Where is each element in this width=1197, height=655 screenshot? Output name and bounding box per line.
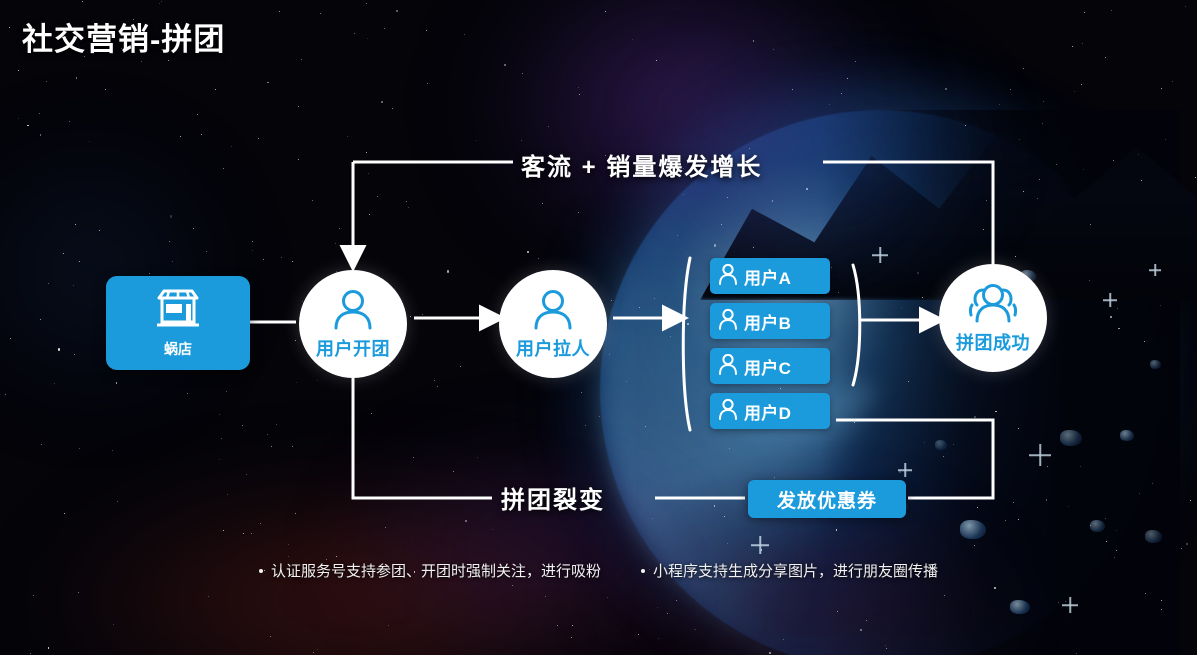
user-chip-label: 用户D bbox=[744, 399, 791, 424]
issue-coupon-button[interactable]: 发放优惠券 bbox=[748, 480, 906, 518]
user-chip-label: 用户B bbox=[744, 309, 791, 334]
node-label: 用户拉人 bbox=[516, 335, 590, 361]
person-icon bbox=[718, 353, 738, 380]
node-group-success[interactable]: 拼团成功 bbox=[939, 264, 1047, 372]
footnote-text: 小程序支持生成分享图片，进行朋友圈传播 bbox=[653, 560, 938, 581]
footnote-list: 认证服务号支持参团、开团时强制关注，进行吸粉 小程序支持生成分享图片，进行朋友圈… bbox=[0, 560, 1197, 581]
bullet-dot-icon bbox=[259, 569, 263, 573]
single-user-icon bbox=[330, 288, 376, 335]
user-chip[interactable]: 用户A bbox=[710, 258, 830, 294]
footnote-item: 认证服务号支持参团、开团时强制关注，进行吸粉 bbox=[259, 560, 601, 581]
user-chip-label: 用户A bbox=[744, 264, 791, 289]
shop-card[interactable]: 蜗店 bbox=[106, 276, 250, 370]
footnote-text: 认证服务号支持参团、开团时强制关注，进行吸粉 bbox=[271, 560, 601, 581]
node-user-open-group[interactable]: 用户开团 bbox=[299, 270, 407, 378]
user-chip[interactable]: 用户B bbox=[710, 303, 830, 339]
user-chip[interactable]: 用户C bbox=[710, 348, 830, 384]
node-user-invite[interactable]: 用户拉人 bbox=[499, 270, 607, 378]
user-chip[interactable]: 用户D bbox=[710, 393, 830, 429]
flow-label-fission: 拼团裂变 bbox=[501, 480, 605, 515]
user-chip-label: 用户C bbox=[744, 354, 791, 379]
node-label: 拼团成功 bbox=[956, 329, 1030, 355]
group-users-icon bbox=[966, 282, 1020, 329]
slide-canvas: 社交营销-拼团 bbox=[0, 0, 1197, 655]
person-icon bbox=[718, 398, 738, 425]
footnote-item: 小程序支持生成分享图片，进行朋友圈传播 bbox=[641, 560, 938, 581]
storefront-icon bbox=[155, 288, 201, 335]
user-chip-list: 用户A 用户B 用户C bbox=[710, 258, 830, 438]
person-icon bbox=[718, 308, 738, 335]
flow-label-growth: 客流 + 销量爆发增长 bbox=[521, 147, 762, 182]
shop-card-label: 蜗店 bbox=[164, 339, 192, 359]
person-icon bbox=[718, 263, 738, 290]
node-label: 用户开团 bbox=[316, 335, 390, 361]
bullet-dot-icon bbox=[641, 569, 645, 573]
single-user-icon bbox=[530, 288, 576, 335]
